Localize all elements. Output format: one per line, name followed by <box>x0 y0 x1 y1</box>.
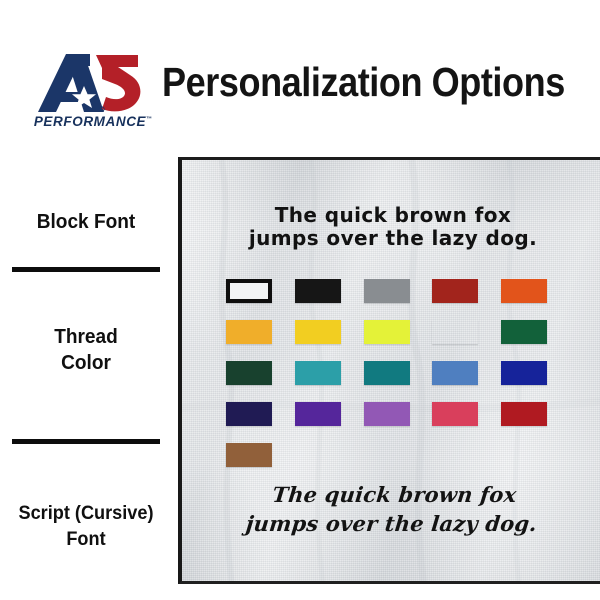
swatch-cell <box>501 320 569 361</box>
label-thread-color: Thread Color <box>6 324 166 376</box>
swatch-cell <box>364 320 432 361</box>
swatch-row <box>226 443 570 484</box>
swatch-cell <box>226 443 296 484</box>
script-sample-line1: The quick brown fox <box>182 480 600 509</box>
swatch-row <box>226 320 570 361</box>
thread-color-swatch[interactable] <box>295 361 341 385</box>
label-thread-color-line2: Color <box>61 351 111 374</box>
swatch-cell <box>226 279 294 320</box>
thread-color-swatch[interactable] <box>501 320 547 344</box>
swatch-cell <box>364 402 432 443</box>
swatch-cell <box>501 279 569 320</box>
thread-color-swatch[interactable] <box>364 279 410 303</box>
swatch-cell <box>295 361 363 402</box>
swatch-cell <box>432 402 500 443</box>
swatch-cell <box>295 320 363 361</box>
thread-color-swatch[interactable] <box>364 320 410 344</box>
swatch-cell <box>226 320 294 361</box>
swatch-row <box>226 402 570 443</box>
thread-color-swatch[interactable] <box>364 361 410 385</box>
swatch-cell <box>432 320 500 361</box>
block-font-sample-text: The quick brown fox jumps over the lazy … <box>182 204 600 250</box>
swatch-cell <box>501 361 569 402</box>
thread-color-swatch[interactable] <box>295 320 341 344</box>
thread-color-swatch[interactable] <box>226 279 272 303</box>
thread-color-swatch[interactable] <box>226 402 272 426</box>
thread-color-swatch[interactable] <box>295 402 341 426</box>
swatch-row <box>226 279 570 320</box>
script-sample-line2: jumps over the lazy dog. <box>179 509 600 538</box>
thread-color-swatch-grid <box>226 279 570 484</box>
thread-color-swatch[interactable] <box>295 279 341 303</box>
swatch-cell <box>364 279 432 320</box>
thread-color-swatch[interactable] <box>226 443 272 467</box>
section-divider <box>12 439 160 444</box>
swatch-cell <box>432 361 500 402</box>
swatch-cell <box>501 402 569 443</box>
logo-wordmark-text: PERFORMANCE <box>34 114 146 129</box>
block-sample-line2: jumps over the lazy dog. <box>182 227 600 250</box>
swatch-cell <box>432 279 500 320</box>
page-title: Personalization Options <box>162 58 565 106</box>
thread-color-swatch[interactable] <box>364 402 410 426</box>
a3-performance-logo[interactable]: PERFORMANCE™ <box>26 52 156 134</box>
logo-wordmark: PERFORMANCE™ <box>31 114 155 129</box>
category-label-column: Block Font Thread Color Script (Cursive)… <box>0 150 172 600</box>
thread-color-swatch[interactable] <box>501 402 547 426</box>
embroidery-sample-fabric: The quick brown fox jumps over the lazy … <box>178 157 600 584</box>
swatch-cell <box>295 279 363 320</box>
thread-color-swatch[interactable] <box>226 361 272 385</box>
label-thread-color-line1: Thread <box>54 325 118 348</box>
label-script-font-line1: Script (Cursive) <box>18 502 153 524</box>
label-block-font: Block Font <box>6 210 166 234</box>
label-script-font-line2: Font <box>66 528 105 550</box>
thread-color-swatch[interactable] <box>432 279 478 303</box>
swatch-cell <box>226 361 294 402</box>
swatch-cell <box>295 402 363 443</box>
thread-color-swatch[interactable] <box>432 320 478 344</box>
thread-color-swatch[interactable] <box>501 361 547 385</box>
block-sample-line1: The quick brown fox <box>182 204 600 227</box>
a3-logo-mark-icon <box>26 52 156 114</box>
thread-color-swatch[interactable] <box>501 279 547 303</box>
page-header: PERFORMANCE™ Personalization Options <box>0 0 600 150</box>
logo-trademark-symbol: ™ <box>146 117 152 123</box>
thread-color-swatch[interactable] <box>432 361 478 385</box>
section-divider <box>12 267 160 272</box>
swatch-row <box>226 361 570 402</box>
swatch-cell <box>364 361 432 402</box>
script-font-sample-text: The quick brown fox jumps over the lazy … <box>179 480 600 538</box>
label-script-font: Script (Cursive) Font <box>6 500 166 552</box>
thread-color-swatch[interactable] <box>432 402 478 426</box>
thread-color-swatch[interactable] <box>226 320 272 344</box>
swatch-cell <box>226 402 294 443</box>
